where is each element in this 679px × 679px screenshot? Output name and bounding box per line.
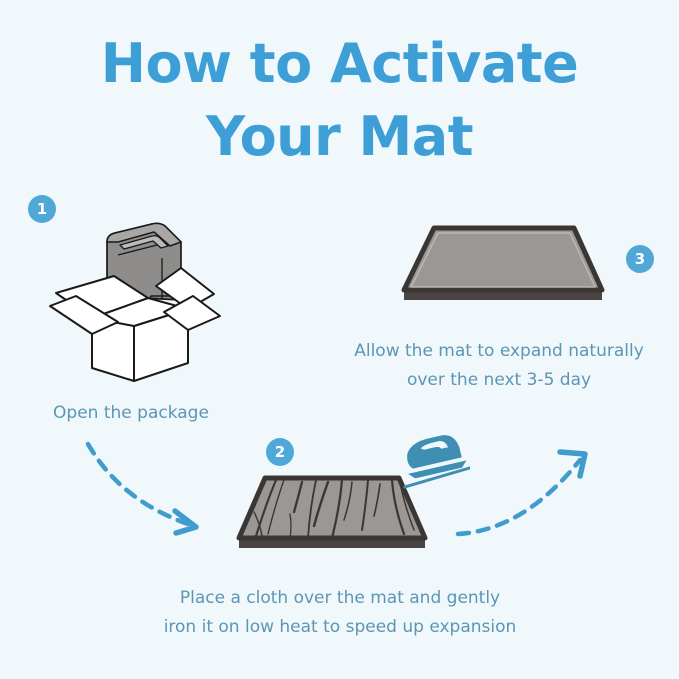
step-3-caption-line-2: over the next 3-5 day [320,366,678,395]
step-3-caption: Allow the mat to expand naturally over t… [320,337,678,395]
package-box-icon [48,218,223,388]
step-1-caption: Open the package [0,399,262,428]
step-2-caption-line-2: iron it on low heat to speed up expansio… [110,613,570,642]
arrow-step2-to-step3 [452,438,602,548]
title-line-2: Your Mat [0,101,679,174]
step-3-badge: 3 [626,245,654,273]
step-2-badge: 2 [266,438,294,466]
page-title: How to Activate Your Mat [0,28,679,174]
step-2-caption: Place a cloth over the mat and gently ir… [110,584,570,642]
arrow-step1-to-step2 [80,438,230,548]
mat-icon-expanded [398,218,608,323]
step-3-caption-line-1: Allow the mat to expand naturally [320,337,678,366]
step-2-caption-line-1: Place a cloth over the mat and gently [110,584,570,613]
title-line-1: How to Activate [0,28,679,101]
infographic-root: How to Activate Your Mat 1 [0,0,679,679]
